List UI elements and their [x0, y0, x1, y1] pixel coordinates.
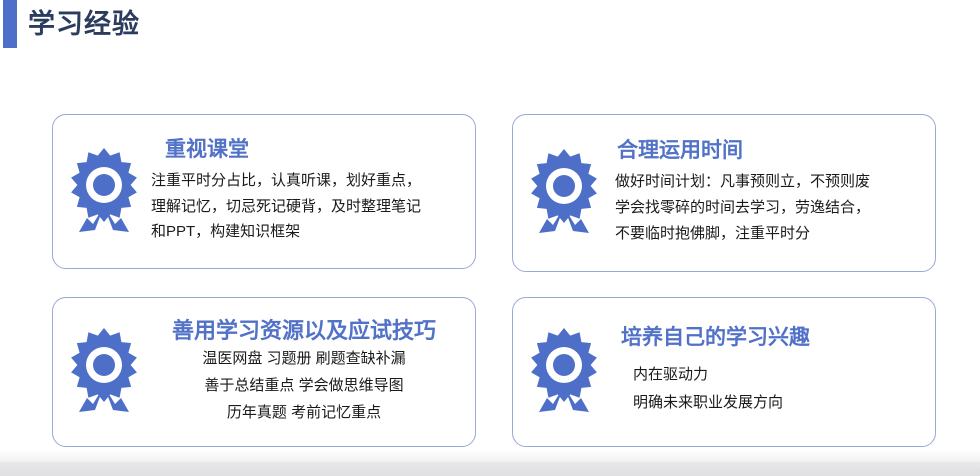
card-line: 注重平时分占比，认真听课，划好重点，	[151, 168, 463, 194]
slide-canvas: 学习经验 重视课堂 注重平时分占比，认真听课，划好重点， 理解记忆，切忌	[0, 0, 980, 476]
card-line: 内在驱动力	[611, 361, 923, 390]
card-content: 合理运用时间 做好时间计划：凡事预则立，不预则废 学会找零碎的时间去学习，劳逸结…	[611, 139, 935, 247]
card-line: 和PPT，构建知识框架	[151, 219, 463, 245]
card-培养自己的学习兴趣[interactable]: 培养自己的学习兴趣 内在驱动力 明确未来职业发展方向	[512, 297, 936, 447]
card-grid: 重视课堂 注重平时分占比，认真听课，划好重点， 理解记忆，切忌死记硬背，及时整理…	[0, 0, 980, 476]
award-medal-icon	[517, 326, 611, 418]
card-heading: 善用学习资源以及应试技巧	[151, 318, 457, 343]
card-line: 不要临时抱佛脚，注重平时分	[611, 221, 923, 247]
card-line: 理解记忆，切忌死记硬背，及时整理笔记	[151, 194, 463, 220]
bottom-gradient-strip	[0, 450, 980, 476]
bottom-strip-segment-right	[720, 462, 980, 476]
bottom-strip-segment-left	[0, 462, 720, 476]
card-善用学习资源以及应试技巧[interactable]: 善用学习资源以及应试技巧 温医网盘 习题册 刷题查缺补漏 善于总结重点 学会做思…	[52, 297, 476, 447]
card-heading: 培养自己的学习兴趣	[611, 326, 923, 350]
card-content: 善用学习资源以及应试技巧 温医网盘 习题册 刷题查缺补漏 善于总结重点 学会做思…	[151, 318, 475, 426]
card-line: 做好时间计划：凡事预则立，不预则废	[611, 169, 923, 195]
card-line: 历年真题 考前记忆重点	[151, 399, 457, 426]
card-content: 重视课堂 注重平时分占比，认真听课，划好重点， 理解记忆，切忌死记硬背，及时整理…	[151, 138, 475, 246]
card-line: 善于总结重点 学会做思维导图	[151, 372, 457, 399]
card-heading: 合理运用时间	[611, 139, 923, 163]
card-line: 明确未来职业发展方向	[611, 389, 923, 418]
card-合理运用时间[interactable]: 合理运用时间 做好时间计划：凡事预则立，不预则废 学会找零碎的时间去学习，劳逸结…	[512, 114, 936, 272]
award-medal-icon	[57, 326, 151, 418]
card-content: 培养自己的学习兴趣 内在驱动力 明确未来职业发展方向	[611, 326, 935, 417]
card-heading: 重视课堂	[151, 138, 463, 162]
award-medal-icon	[517, 147, 611, 239]
card-line: 温医网盘 习题册 刷题查缺补漏	[151, 345, 457, 372]
card-重视课堂[interactable]: 重视课堂 注重平时分占比，认真听课，划好重点， 理解记忆，切忌死记硬背，及时整理…	[52, 114, 476, 269]
award-medal-icon	[57, 146, 151, 238]
card-line: 学会找零碎的时间去学习，劳逸结合，	[611, 195, 923, 221]
